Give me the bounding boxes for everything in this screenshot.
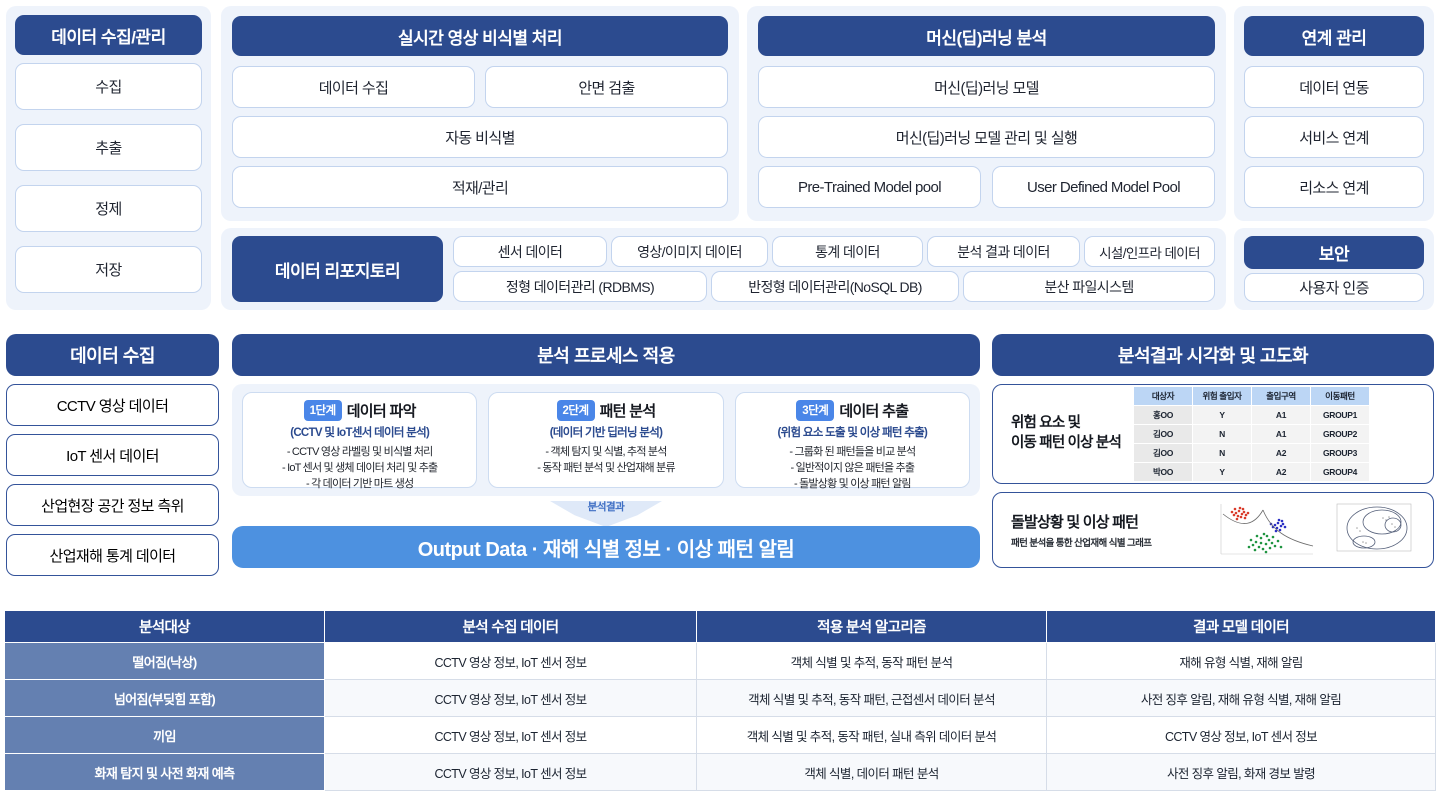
video-item-auto-deidentification[interactable]: 자동 비식별 — [232, 116, 728, 158]
cell-algorithm: 객체 식별 및 추적, 동작 패턴, 실내 측위 데이터 분석 — [697, 717, 1047, 754]
mini-th-move-pattern: 이동패턴 — [1311, 387, 1369, 405]
mini-cell: GROUP2 — [1311, 425, 1369, 443]
section-header-analysis-process: 분석 프로세스 적용 — [232, 334, 980, 376]
step-3-line-2: - 일반적이지 않은 패턴을 추출 — [789, 461, 915, 477]
panel-data-collection-management: 데이터 수집/관리 수집 추출 정제 저장 — [6, 6, 211, 310]
mini-th-zone: 출입구역 — [1252, 387, 1310, 405]
cell-category: 끼임 — [5, 717, 325, 754]
anomaly-sublabel: 패턴 분석을 통한 산업재해 식별 그래프 — [1011, 535, 1151, 549]
arrow-label: 분석결과 — [588, 499, 625, 514]
mini-cell: 박OO — [1134, 463, 1192, 481]
summary-table-header-row: 분석대상 분석 수집 데이터 적용 분석 알고리즘 결과 모델 데이터 — [5, 611, 1436, 643]
mini-cell: GROUP3 — [1311, 444, 1369, 462]
process-step-1[interactable]: 1단계 데이터 파악 (CCTV 및 IoT센서 데이터 분석) - CCTV … — [242, 392, 477, 488]
cell-algorithm: 객체 식별, 데이터 패턴 분석 — [697, 754, 1047, 791]
risk-pattern-label: 위험 요소 및 이동 패턴 이상 분석 — [993, 414, 1121, 453]
process-steps-container: 1단계 데이터 파악 (CCTV 및 IoT센서 데이터 분석) - CCTV … — [232, 384, 980, 496]
mini-cell: A2 — [1252, 463, 1310, 481]
th-analysis-target: 분석대상 — [5, 611, 325, 643]
step-2-line-2: - 동작 패턴 분석 및 산업재해 분류 — [537, 461, 675, 477]
mini-th-risk-entrant: 위험 출입자 — [1193, 387, 1251, 405]
collect-item-1[interactable]: 수집 — [15, 63, 202, 110]
mid-collect-item-iot[interactable]: IoT 센서 데이터 — [6, 434, 219, 476]
risk-pattern-table: 대상자 위험 출입자 출입구역 이동패턴 홍OO Y A1 GROUP1 김OO — [1133, 386, 1370, 482]
panel-realtime-video-deidentification: 실시간 영상 비식별 처리 데이터 수집 안면 검출 자동 비식별 적재/관리 — [221, 6, 739, 221]
mini-table-row: 홍OO Y A1 GROUP1 — [1134, 406, 1369, 424]
repo-sensor-data[interactable]: 센서 데이터 — [453, 236, 607, 267]
link-item-3[interactable]: 리소스 연계 — [1244, 166, 1424, 208]
analysis-summary-table: 분석대상 분석 수집 데이터 적용 분석 알고리즘 결과 모델 데이터 떨어짐(… — [4, 610, 1436, 791]
step-badge-1: 1단계 — [304, 400, 342, 421]
repo-rdbms[interactable]: 정형 데이터관리 (RDBMS) — [453, 271, 707, 302]
collect-item-2[interactable]: 추출 — [15, 124, 202, 171]
mini-cell: A1 — [1252, 406, 1310, 424]
mini-cell: Y — [1193, 463, 1251, 481]
repo-video-image-data[interactable]: 영상/이미지 데이터 — [611, 236, 768, 267]
table-row: 화재 탐지 및 사전 화재 예측 CCTV 영상 정보, IoT 센서 정보 객… — [5, 754, 1436, 791]
step-3-line-1: - 그룹화 된 패턴들을 비교 분석 — [789, 445, 915, 461]
cell-algorithm: 객체 식별 및 추적, 동작 패턴, 근접센서 데이터 분석 — [697, 680, 1047, 717]
mini-cell: N — [1193, 425, 1251, 443]
mid-collect-item-spatial[interactable]: 산업현장 공간 정보 측위 — [6, 484, 219, 526]
cell-collected-data: CCTV 영상 정보, IoT 센서 정보 — [325, 754, 697, 791]
mini-cell: GROUP4 — [1311, 463, 1369, 481]
cell-category: 넘어짐(부딪힘 포함) — [5, 680, 325, 717]
step-1-line-3: - 각 데이터 기반 마트 생성 — [282, 477, 437, 493]
mini-table-row: 김OO N A2 GROUP3 — [1134, 444, 1369, 462]
panel-header-data-collection-management: 데이터 수집/관리 — [15, 15, 202, 55]
scatter-plot-thumbnail-icon — [1211, 500, 1317, 560]
mid-collect-item-cctv[interactable]: CCTV 영상 데이터 — [6, 384, 219, 426]
panel-linkage-management: 연계 관리 데이터 연동 서비스 연계 리소스 연계 — [1234, 6, 1434, 221]
mini-table-row: 박OO Y A2 GROUP4 — [1134, 463, 1369, 481]
mini-table-header-row: 대상자 위험 출입자 출입구역 이동패턴 — [1134, 387, 1369, 405]
cell-collected-data: CCTV 영상 정보, IoT 센서 정보 — [325, 717, 697, 754]
anomaly-label: 돌발상황 및 이상 패턴 — [1011, 511, 1151, 532]
ml-item-pretrained-pool[interactable]: Pre-Trained Model pool — [758, 166, 981, 208]
mini-cell: N — [1193, 444, 1251, 462]
output-data-bar: Output Data · 재해 식별 정보 · 이상 패턴 알림 — [232, 526, 980, 568]
th-result-model-data: 결과 모델 데이터 — [1047, 611, 1436, 643]
cell-algorithm: 객체 식별 및 추적, 동작 패턴 분석 — [697, 643, 1047, 680]
cell-result-model: 사전 징후 알림, 재해 유형 식별, 재해 알림 — [1047, 680, 1436, 717]
step-3-line-3: - 돌발상황 및 이상 패턴 알림 — [789, 477, 915, 493]
step-bullets-2: - 객체 탐지 및 식별, 추적 분석 - 동작 패턴 분석 및 산업재해 분류 — [537, 445, 675, 477]
step-name-1: 데이터 파악 — [347, 400, 416, 421]
chart-thumbnails — [1211, 500, 1419, 560]
analysis-result-arrow: 분석결과 — [232, 499, 980, 527]
repo-analysis-result-data[interactable]: 분석 결과 데이터 — [927, 236, 1080, 267]
step-bullets-1: - CCTV 영상 라벨링 및 비식별 처리 - IoT 센서 및 생체 데이터… — [282, 445, 437, 493]
collect-item-3[interactable]: 정제 — [15, 185, 202, 232]
collect-item-4[interactable]: 저장 — [15, 246, 202, 293]
step-name-3: 데이터 추출 — [839, 400, 908, 421]
step-2-line-1: - 객체 탐지 및 식별, 추적 분석 — [537, 445, 675, 461]
link-item-1[interactable]: 데이터 연동 — [1244, 66, 1424, 108]
table-row: 끼임 CCTV 영상 정보, IoT 센서 정보 객체 식별 및 추적, 동작 … — [5, 717, 1436, 754]
architecture-diagram: 데이터 수집/관리 수집 추출 정제 저장 실시간 영상 비식별 처리 데이터 … — [0, 0, 1440, 794]
step-1-line-1: - CCTV 영상 라벨링 및 비식별 처리 — [282, 445, 437, 461]
cell-collected-data: CCTV 영상 정보, IoT 센서 정보 — [325, 680, 697, 717]
step-subtitle-3: (위험 요소 도출 및 이상 패턴 추출) — [777, 424, 927, 440]
table-row: 넘어짐(부딪힘 포함) CCTV 영상 정보, IoT 센서 정보 객체 식별 … — [5, 680, 1436, 717]
mini-cell: GROUP1 — [1311, 406, 1369, 424]
step-subtitle-1: (CCTV 및 IoT센서 데이터 분석) — [290, 424, 429, 440]
step-badge-2: 2단계 — [557, 400, 595, 421]
th-collected-data: 분석 수집 데이터 — [325, 611, 697, 643]
panel-security: 보안 사용자 인증 — [1234, 228, 1434, 310]
th-algorithm: 적용 분석 알고리즘 — [697, 611, 1047, 643]
cell-result-model: 사전 징후 알림, 화재 경보 발령 — [1047, 754, 1436, 791]
ml-item-model-manage-run[interactable]: 머신(딥)러닝 모델 관리 및 실행 — [758, 116, 1215, 158]
panel-data-repository: 데이터 리포지토리 센서 데이터 영상/이미지 데이터 통계 데이터 분석 결과… — [221, 228, 1226, 310]
panel-header-realtime-video: 실시간 영상 비식별 처리 — [232, 16, 728, 56]
section-header-data-collection: 데이터 수집 — [6, 334, 219, 376]
repo-facility-infra-data[interactable]: 시설/인프라 데이터 — [1084, 236, 1215, 267]
repo-nosql[interactable]: 반정형 데이터관리(NoSQL DB) — [711, 271, 959, 302]
step-name-2: 패턴 분석 — [600, 400, 656, 421]
cell-collected-data: CCTV 영상 정보, IoT 센서 정보 — [325, 643, 697, 680]
mini-cell: 김OO — [1134, 425, 1192, 443]
link-item-2[interactable]: 서비스 연계 — [1244, 116, 1424, 158]
mini-th-target: 대상자 — [1134, 387, 1192, 405]
section-header-visualization: 분석결과 시각화 및 고도화 — [992, 334, 1434, 376]
cell-result-model: 재해 유형 식별, 재해 알림 — [1047, 643, 1436, 680]
step-bullets-3: - 그룹화 된 패턴들을 비교 분석 - 일반적이지 않은 패턴을 추출 - 돌… — [789, 445, 915, 493]
ml-item-user-defined-pool[interactable]: User Defined Model Pool — [992, 166, 1215, 208]
process-step-2[interactable]: 2단계 패턴 분석 (데이터 기반 딥러닝 분석) - 객체 탐지 및 식별, … — [488, 392, 723, 488]
panel-header-ml-analysis: 머신(딥)러닝 분석 — [758, 16, 1215, 56]
video-item-store-manage[interactable]: 적재/관리 — [232, 166, 728, 208]
mini-cell: A1 — [1252, 425, 1310, 443]
cluster-ellipse-thumbnail-icon — [1327, 500, 1419, 560]
process-step-3[interactable]: 3단계 데이터 추출 (위험 요소 도출 및 이상 패턴 추출) - 그룹화 된… — [735, 392, 970, 488]
step-subtitle-2: (데이터 기반 딥러닝 분석) — [550, 424, 663, 440]
security-item-user-auth[interactable]: 사용자 인증 — [1244, 273, 1424, 302]
ml-item-model[interactable]: 머신(딥)러닝 모델 — [758, 66, 1215, 108]
panel-machine-deep-learning-analysis: 머신(딥)러닝 분석 머신(딥)러닝 모델 머신(딥)러닝 모델 관리 및 실행… — [747, 6, 1226, 221]
mini-cell: Y — [1193, 406, 1251, 424]
process-step-2-title: 2단계 패턴 분석 — [557, 400, 656, 421]
step-badge-3: 3단계 — [796, 400, 834, 421]
visualization-card-risk-pattern[interactable]: 위험 요소 및 이동 패턴 이상 분석 대상자 위험 출입자 출입구역 이동패턴… — [992, 384, 1434, 484]
step-1-line-2: - IoT 센서 및 생체 데이터 처리 및 추출 — [282, 461, 437, 477]
table-row: 떨어짐(낙상) CCTV 영상 정보, IoT 센서 정보 객체 식별 및 추적… — [5, 643, 1436, 680]
section-visualization: 분석결과 시각화 및 고도화 위험 요소 및 이동 패턴 이상 분석 대상자 위… — [992, 334, 1434, 596]
repo-distributed-filesystem[interactable]: 분산 파일시스템 — [963, 271, 1215, 302]
mini-cell: A2 — [1252, 444, 1310, 462]
process-step-1-title: 1단계 데이터 파악 — [304, 400, 416, 421]
mid-collect-item-statistics[interactable]: 산업재해 통계 데이터 — [6, 534, 219, 576]
mini-cell: 홍OO — [1134, 406, 1192, 424]
cell-category: 떨어짐(낙상) — [5, 643, 325, 680]
panel-header-linkage: 연계 관리 — [1244, 16, 1424, 56]
video-item-face-detection[interactable]: 안면 검출 — [485, 66, 728, 108]
repo-statistics-data[interactable]: 통계 데이터 — [772, 236, 923, 267]
cell-category: 화재 탐지 및 사전 화재 예측 — [5, 754, 325, 791]
mini-cell: 김OO — [1134, 444, 1192, 462]
panel-header-security: 보안 — [1244, 236, 1424, 269]
video-item-data-collection[interactable]: 데이터 수집 — [232, 66, 475, 108]
section-analysis-process: 분석 프로세스 적용 1단계 데이터 파악 (CCTV 및 IoT센서 데이터 … — [232, 334, 980, 596]
process-step-3-title: 3단계 데이터 추출 — [796, 400, 908, 421]
visualization-card-anomaly-pattern[interactable]: 돌발상황 및 이상 패턴 패턴 분석을 통한 산업재해 식별 그래프 — [992, 492, 1434, 568]
mini-table-row: 김OO N A1 GROUP2 — [1134, 425, 1369, 443]
cell-result-model: CCTV 영상 정보, IoT 센서 정보 — [1047, 717, 1436, 754]
section-data-collection: 데이터 수집 CCTV 영상 데이터 IoT 센서 데이터 산업현장 공간 정보… — [6, 334, 219, 596]
panel-header-data-repository: 데이터 리포지토리 — [232, 236, 443, 302]
